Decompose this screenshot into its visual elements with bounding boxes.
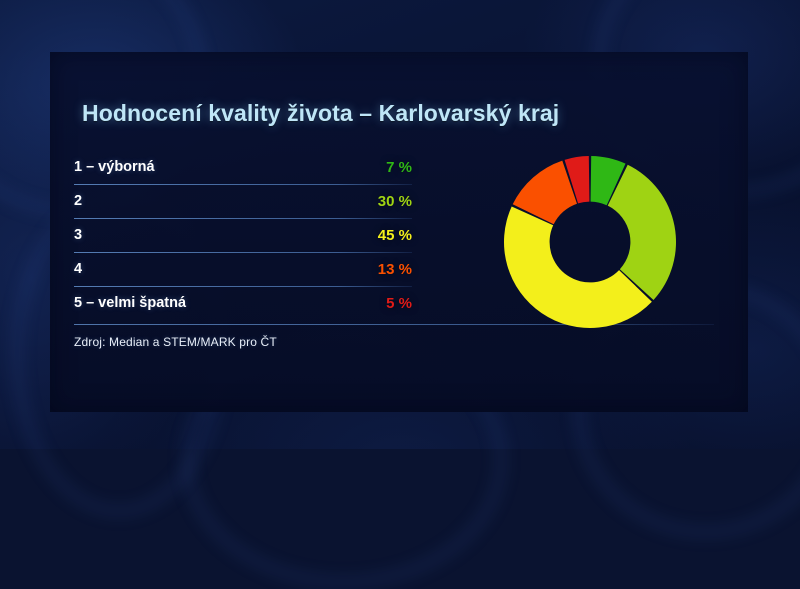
rating-label: 4 <box>74 261 82 277</box>
rating-table: 1 – výborná 7 % 2 30 % 3 45 % 4 13 % 5 –… <box>74 150 412 320</box>
donut-chart-svg <box>490 142 690 342</box>
rating-value: 13 % <box>378 261 412 278</box>
infographic-panel: Hodnocení kvality života – Karlovarský k… <box>50 52 748 412</box>
donut-slices <box>504 156 676 328</box>
rating-value: 7 % <box>386 159 412 176</box>
rating-value: 45 % <box>378 227 412 244</box>
table-row: 4 13 % <box>74 252 412 286</box>
rating-value: 30 % <box>378 193 412 210</box>
table-row: 3 45 % <box>74 218 412 252</box>
rating-value: 5 % <box>386 295 412 312</box>
donut-chart <box>490 142 690 342</box>
page-title: Hodnocení kvality života – Karlovarský k… <box>82 100 559 127</box>
rating-label: 1 – výborná <box>74 159 155 175</box>
rating-label: 5 – velmi špatná <box>74 295 186 311</box>
rating-label: 2 <box>74 193 82 209</box>
rating-label: 3 <box>74 227 82 243</box>
table-row: 5 – velmi špatná 5 % <box>74 286 412 320</box>
source-note: Zdroj: Median a STEM/MARK pro ČT <box>74 335 277 349</box>
table-row: 1 – výborná 7 % <box>74 150 412 184</box>
table-row: 2 30 % <box>74 184 412 218</box>
